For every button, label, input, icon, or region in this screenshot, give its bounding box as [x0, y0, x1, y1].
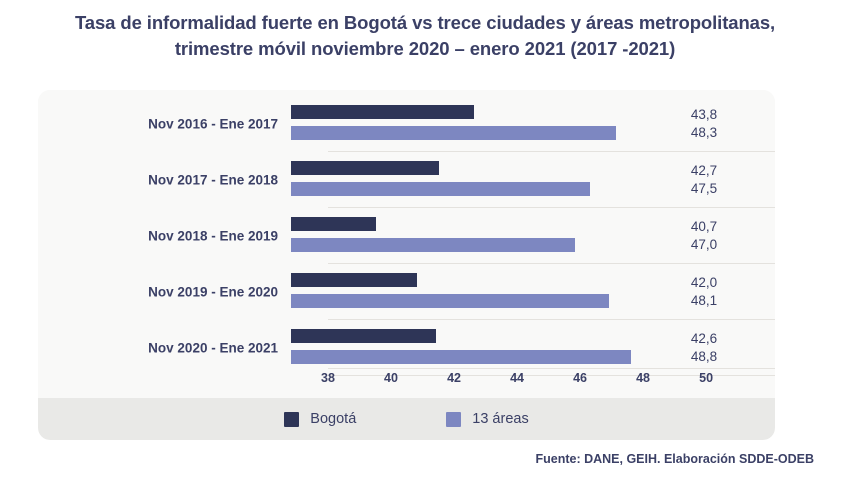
bar-areas[interactable] — [291, 294, 609, 308]
bar-areas[interactable] — [291, 126, 616, 140]
axis-tick-label: 46 — [573, 371, 587, 385]
bar-areas[interactable] — [291, 238, 575, 252]
category-label: Nov 2017 - Ene 2018 — [98, 173, 278, 188]
legend-swatch-icon — [446, 412, 461, 427]
axis-tick-label: 48 — [636, 371, 650, 385]
value-label-areas: 48,8 — [658, 348, 750, 366]
chart-page: Tasa de informalidad fuerte en Bogotá vs… — [0, 0, 850, 488]
chart-legend: Bogotá13 áreas — [38, 398, 775, 440]
value-label-bogota: 42,0 — [658, 274, 750, 292]
bar-areas[interactable] — [291, 350, 631, 364]
legend-item-bogota[interactable]: Bogotá — [284, 411, 356, 427]
axis-tick-label: 40 — [384, 371, 398, 385]
category-label: Nov 2020 - Ene 2021 — [98, 341, 278, 356]
value-labels: 42,048,1 — [658, 274, 750, 310]
page-title: Tasa de informalidad fuerte en Bogotá vs… — [36, 10, 814, 62]
chart-card: Nov 2020 - Ene 202142,648,8Nov 2019 - En… — [38, 90, 775, 440]
bar-bogota[interactable] — [291, 329, 436, 343]
value-label-bogota: 43,8 — [658, 106, 750, 124]
value-label-bogota: 40,7 — [658, 218, 750, 236]
axis-tick-label: 42 — [447, 371, 461, 385]
bar-bogota[interactable] — [291, 273, 417, 287]
axis-tick-label: 50 — [699, 371, 713, 385]
bar-bogota[interactable] — [291, 217, 376, 231]
legend-label: Bogotá — [310, 411, 356, 427]
page-title-line-2: trimestre móvil noviembre 2020 – enero 2… — [36, 36, 814, 62]
legend-item-areas[interactable]: 13 áreas — [446, 411, 528, 427]
value-labels: 43,848,3 — [658, 106, 750, 142]
bar-areas[interactable] — [291, 182, 590, 196]
legend-swatch-icon — [284, 412, 299, 427]
legend-label: 13 áreas — [472, 411, 528, 427]
value-label-areas: 48,3 — [658, 124, 750, 142]
value-label-areas: 47,0 — [658, 236, 750, 254]
category-label: Nov 2016 - Ene 2017 — [98, 117, 278, 132]
bar-bogota[interactable] — [291, 105, 474, 119]
value-labels: 42,648,8 — [658, 330, 750, 366]
axis-tick-label: 44 — [510, 371, 524, 385]
x-axis-line — [328, 368, 775, 369]
bar-bogota[interactable] — [291, 161, 439, 175]
value-labels: 40,747,0 — [658, 218, 750, 254]
category-label: Nov 2018 - Ene 2019 — [98, 229, 278, 244]
x-axis-ticks: 38404244464850 — [38, 371, 775, 393]
axis-tick-label: 38 — [321, 371, 335, 385]
chart-group-row: Nov 2016 - Ene 201743,848,3 — [38, 96, 775, 152]
chart-group-row: Nov 2019 - Ene 202042,048,1 — [38, 264, 775, 320]
chart-group-row: Nov 2018 - Ene 201940,747,0 — [38, 208, 775, 264]
plot-area: Nov 2020 - Ene 202142,648,8Nov 2019 - En… — [38, 90, 775, 398]
value-label-bogota: 42,7 — [658, 162, 750, 180]
chart-group-row: Nov 2017 - Ene 201842,747,5 — [38, 152, 775, 208]
value-label-areas: 48,1 — [658, 292, 750, 310]
value-label-areas: 47,5 — [658, 180, 750, 198]
value-labels: 42,747,5 — [658, 162, 750, 198]
category-label: Nov 2019 - Ene 2020 — [98, 285, 278, 300]
source-note: Fuente: DANE, GEIH. Elaboración SDDE-ODE… — [0, 452, 814, 466]
value-label-bogota: 42,6 — [658, 330, 750, 348]
page-title-line-1: Tasa de informalidad fuerte en Bogotá vs… — [36, 10, 814, 36]
